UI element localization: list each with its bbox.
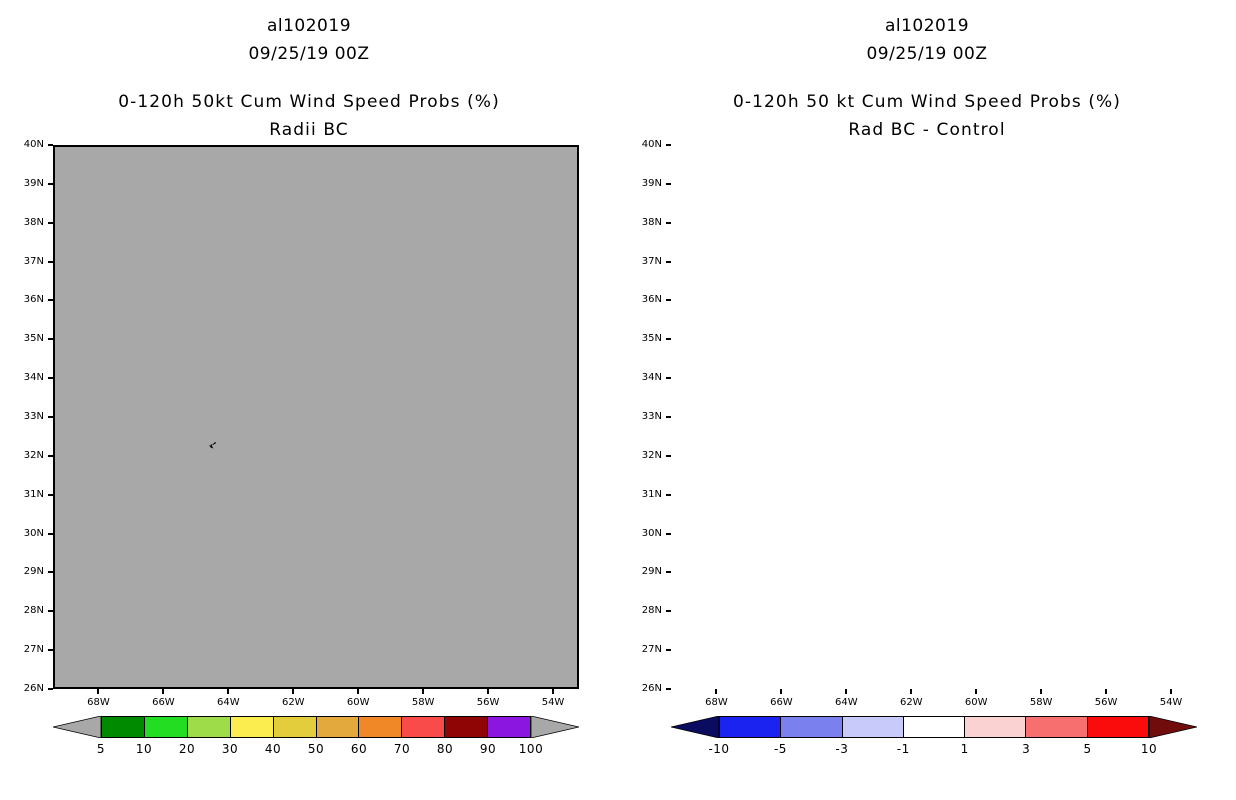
plot-title-left: 0-120h 50kt Cum Wind Speed Probs (%) [0,92,618,112]
colorbar-tick-label: -5 [760,742,800,756]
x-axis-tick [552,689,554,694]
colorbar-cell [274,717,317,737]
x-axis-tick [975,689,977,694]
x-axis-label: 56W [471,697,505,708]
y-axis-tick [666,377,671,379]
panel-right: al102019 09/25/19 00Z 0-120h 50 kt Cum W… [618,0,1236,800]
colorbar-tick-label: 3 [1006,742,1046,756]
map-plot-left [53,145,579,689]
x-axis-label: 62W [276,697,310,708]
x-axis-tick [487,689,489,694]
x-axis-tick [97,689,99,694]
colorbar-cell [1088,717,1148,737]
y-axis-label: 36N [628,294,662,305]
colorbar-tick-label: 90 [468,742,508,756]
y-axis-label: 32N [10,450,44,461]
y-axis-tick [666,610,671,612]
y-axis-tick [48,222,53,224]
y-axis-tick [48,261,53,263]
colorbar-cell [781,717,842,737]
y-axis-tick [666,455,671,457]
y-axis-tick [48,144,53,146]
x-axis-label: 54W [1154,697,1188,708]
x-axis-tick [845,689,847,694]
y-axis-label: 26N [628,683,662,694]
x-axis-label: 66W [764,697,798,708]
x-axis-tick [715,689,717,694]
colorbar-cell [188,717,231,737]
colorbar-tick-label: 5 [81,742,121,756]
y-axis-label: 30N [10,528,44,539]
x-axis-tick [292,689,294,694]
x-axis-label: 66W [146,697,180,708]
y-axis-label: 27N [628,644,662,655]
y-axis-tick [666,299,671,301]
y-axis-label: 28N [10,605,44,616]
y-axis-tick [48,688,53,690]
storm-id-left: al102019 [0,16,618,36]
x-axis-tick [422,689,424,694]
x-axis-label: 62W [894,697,928,708]
y-axis-label: 27N [10,644,44,655]
x-axis-label: 68W [699,697,733,708]
contour-layer-left [55,147,577,687]
x-axis-tick [910,689,912,694]
colorbar-cell [359,717,402,737]
y-axis-label: 40N [10,139,44,150]
y-axis-label: 35N [10,333,44,344]
colorbar-low-arrow-left [53,716,101,738]
y-axis-label: 33N [10,411,44,422]
colorbar-cell [488,717,530,737]
y-axis-tick [666,533,671,535]
x-axis-label: 68W [81,697,115,708]
colorbar-tick-label: 5 [1068,742,1108,756]
panel-left: al102019 09/25/19 00Z 0-120h 50kt Cum Wi… [0,0,618,800]
y-axis-tick [666,494,671,496]
colorbar-tick-label: -10 [699,742,739,756]
colorbar-cell [145,717,188,737]
y-axis-tick [666,571,671,573]
colorbar-low-arrow-right [671,716,719,738]
colorbar-cell [904,717,965,737]
y-axis-tick [48,338,53,340]
x-axis-label: 58W [406,697,440,708]
colorbar-tick-label: 20 [167,742,207,756]
colorbar-cell [720,717,781,737]
colorbar-tick-label: 10 [1129,742,1169,756]
hurricane-symbol-left [207,440,218,451]
colorbar-tick-label: 30 [210,742,250,756]
x-axis-tick [162,689,164,694]
colorbar-cell [317,717,360,737]
colorbar-tick-label: 1 [945,742,985,756]
y-axis-tick [666,688,671,690]
y-axis-label: 30N [628,528,662,539]
y-axis-label: 33N [628,411,662,422]
colorbar-tick-label: 80 [425,742,465,756]
x-axis-label: 58W [1024,697,1058,708]
y-axis-tick [666,183,671,185]
colorbar-cells-right [719,716,1149,738]
y-axis-label: 39N [10,178,44,189]
plot-subtitle-right: Rad BC - Control [618,120,1236,140]
y-axis-tick [666,261,671,263]
x-axis-tick [357,689,359,694]
storm-id-right: al102019 [618,16,1236,36]
y-axis-label: 32N [628,450,662,461]
y-axis-tick [48,377,53,379]
y-axis-label: 28N [628,605,662,616]
y-axis-label: 29N [628,566,662,577]
colorbar-cell [1026,717,1087,737]
y-axis-label: 39N [628,178,662,189]
colorbar-tick-label: 50 [296,742,336,756]
y-axis-label: 37N [10,256,44,267]
y-axis-label: 38N [628,217,662,228]
y-axis-label: 36N [10,294,44,305]
y-axis-label: 34N [10,372,44,383]
x-axis-label: 64W [211,697,245,708]
colorbar-tick-label: 40 [253,742,293,756]
y-axis-tick [48,455,53,457]
x-axis-tick [1105,689,1107,694]
plot-subtitle-left: Radii BC [0,120,618,140]
y-axis-tick [48,299,53,301]
colorbar-high-arrow-right [1149,716,1197,738]
y-axis-tick [666,649,671,651]
x-axis-tick [780,689,782,694]
y-axis-tick [666,144,671,146]
x-axis-label: 56W [1089,697,1123,708]
y-axis-tick [48,533,53,535]
y-axis-tick [48,494,53,496]
probability-colorbar-left: 5102030405060708090100 [53,716,579,776]
y-axis-tick [666,416,671,418]
y-axis-label: 40N [628,139,662,150]
y-axis-label: 38N [10,217,44,228]
colorbar-tick-label: 70 [382,742,422,756]
y-axis-tick [48,649,53,651]
colorbar-cells-left [101,716,531,738]
difference-colorbar-right: -10-5-3-113510 [671,716,1197,776]
x-axis-tick [1170,689,1172,694]
x-axis-label: 64W [829,697,863,708]
y-axis-label: 31N [628,489,662,500]
datetime-left: 09/25/19 00Z [0,44,618,64]
y-axis-label: 34N [628,372,662,383]
y-axis-label: 29N [10,566,44,577]
colorbar-cell [965,717,1026,737]
x-axis-label: 54W [536,697,570,708]
colorbar-tick-label: 60 [339,742,379,756]
colorbar-cell [102,717,145,737]
datetime-right: 09/25/19 00Z [618,44,1236,64]
y-axis-label: 35N [628,333,662,344]
plot-title-right: 0-120h 50 kt Cum Wind Speed Probs (%) [618,92,1236,112]
colorbar-cell [843,717,904,737]
y-axis-tick [48,183,53,185]
y-axis-label: 31N [10,489,44,500]
colorbar-high-arrow-left [531,716,579,738]
x-axis-tick [1040,689,1042,694]
colorbar-cell [402,717,445,737]
colorbar-tick-label: 100 [511,742,551,756]
colorbar-tick-label: 10 [124,742,164,756]
y-axis-label: 26N [10,683,44,694]
y-axis-tick [666,338,671,340]
x-axis-label: 60W [959,697,993,708]
x-axis-label: 60W [341,697,375,708]
x-axis-tick [227,689,229,694]
y-axis-label: 37N [628,256,662,267]
colorbar-tick-label: -3 [822,742,862,756]
colorbar-tick-label: -1 [883,742,923,756]
y-axis-tick [48,610,53,612]
y-axis-tick [48,416,53,418]
y-axis-tick [666,222,671,224]
colorbar-cell [231,717,274,737]
y-axis-tick [48,571,53,573]
colorbar-cell [445,717,488,737]
